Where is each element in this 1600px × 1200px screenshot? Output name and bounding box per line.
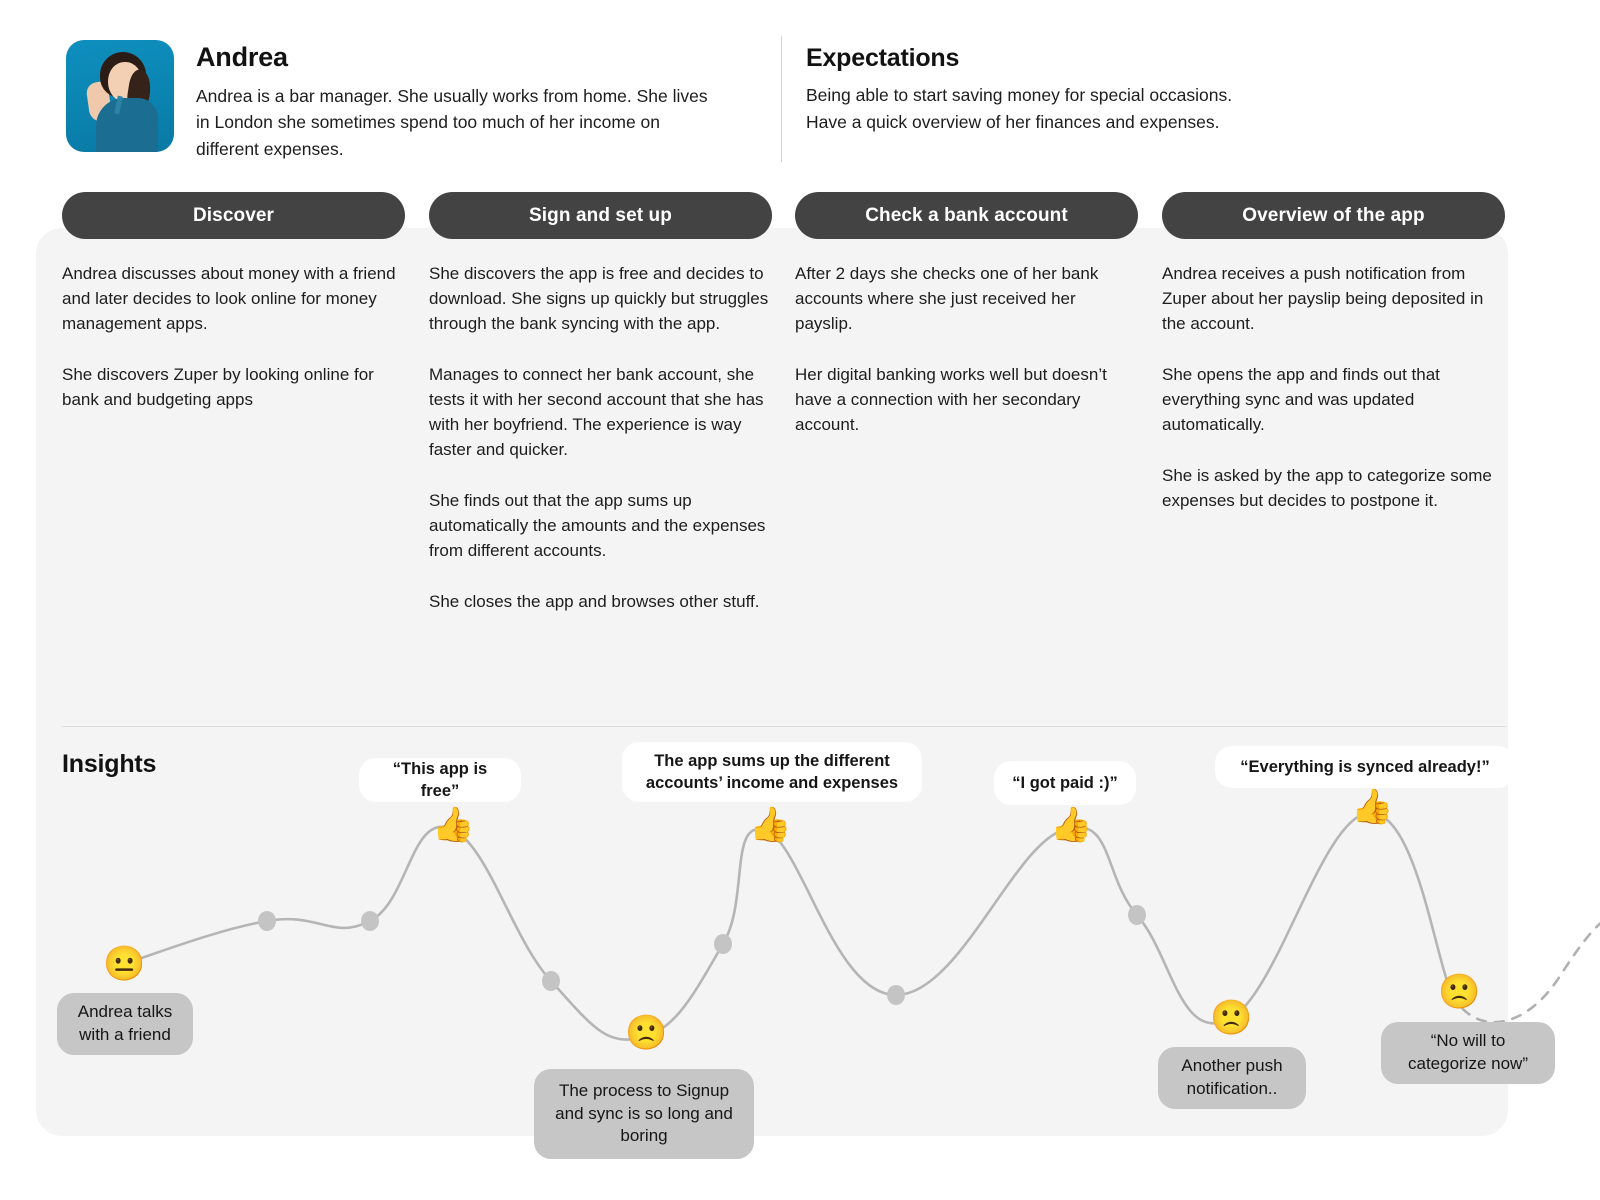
phase-pill-overview-of-the-app[interactable]: Overview of the app (1162, 192, 1505, 239)
phase-columns: Andrea discusses about money with a frie… (0, 262, 1600, 692)
insight-callout: Another push notification.. (1158, 1047, 1306, 1109)
phase-column-discover: Andrea discusses about money with a frie… (62, 262, 402, 439)
phase-pill-sign-and-set-up[interactable]: Sign and set up (429, 192, 772, 239)
insights-title: Insights (62, 750, 156, 779)
insight-callout: The app sums up the different accounts’ … (622, 742, 922, 802)
phase-column-check-a-bank-account: After 2 days she checks one of her bank … (795, 262, 1135, 464)
persona-block: Andrea Andrea is a bar manager. She usua… (66, 40, 766, 162)
thumbs-up-emoji: 👍 (749, 808, 791, 842)
insight-callout: “This app is free” (359, 758, 521, 802)
phase-pill-discover[interactable]: Discover (62, 192, 405, 239)
expectations-title: Expectations (806, 44, 1446, 73)
phase-paragraph: She is asked by the app to categorize so… (1162, 464, 1502, 514)
phase-column-overview-of-the-app: Andrea receives a push notification from… (1162, 262, 1502, 540)
phase-paragraph: She opens the app and finds out that eve… (1162, 363, 1502, 438)
frowning-face-emoji: 🙁 (625, 1016, 667, 1050)
phase-paragraph: Andrea receives a push notification from… (1162, 262, 1502, 337)
persona-header: Andrea Andrea is a bar manager. She usua… (0, 0, 1600, 180)
phase-paragraph: She finds out that the app sums up autom… (429, 489, 769, 564)
insight-callout: The process to Signup and sync is so lon… (534, 1069, 754, 1159)
phase-paragraph: Andrea discusses about money with a frie… (62, 262, 402, 337)
phase-paragraph: She closes the app and browses other stu… (429, 590, 769, 615)
phase-pill-check-a-bank-account[interactable]: Check a bank account (795, 192, 1138, 239)
insight-callout: “Everything is synced already!” (1215, 746, 1515, 788)
insight-callout: “No will to categorize now” (1381, 1022, 1555, 1084)
header-divider (781, 36, 782, 162)
thumbs-up-emoji: 👍 (1351, 790, 1393, 824)
expectations-block: Expectations Being able to start saving … (806, 44, 1446, 136)
phase-paragraph: She discovers the app is free and decide… (429, 262, 769, 337)
persona-description: Andrea is a bar manager. She usually wor… (196, 83, 716, 162)
phase-paragraph: Her digital banking works well but doesn… (795, 363, 1135, 438)
persona-name: Andrea (196, 42, 716, 73)
neutral-face-emoji: 😐 (103, 947, 145, 981)
thumbs-up-emoji: 👍 (432, 808, 474, 842)
phase-paragraph: After 2 days she checks one of her bank … (795, 262, 1135, 337)
phase-pill-row: Discover Sign and set up Check a bank ac… (0, 192, 1600, 240)
avatar (66, 40, 174, 152)
frowning-face-emoji: 🙁 (1438, 975, 1480, 1009)
phase-paragraph: Manages to connect her bank account, she… (429, 363, 769, 463)
expectations-line: Have a quick overview of her finances an… (806, 109, 1446, 136)
insights-divider (62, 726, 1506, 727)
insight-callout: “I got paid :)” (994, 761, 1136, 805)
phase-column-sign-and-set-up: She discovers the app is free and decide… (429, 262, 769, 641)
insight-callout: Andrea talks with a friend (57, 993, 193, 1055)
phase-paragraph: She discovers Zuper by looking online fo… (62, 363, 402, 413)
thumbs-up-emoji: 👍 (1050, 808, 1092, 842)
frowning-face-emoji: 🙁 (1210, 1001, 1252, 1035)
expectations-line: Being able to start saving money for spe… (806, 82, 1446, 109)
